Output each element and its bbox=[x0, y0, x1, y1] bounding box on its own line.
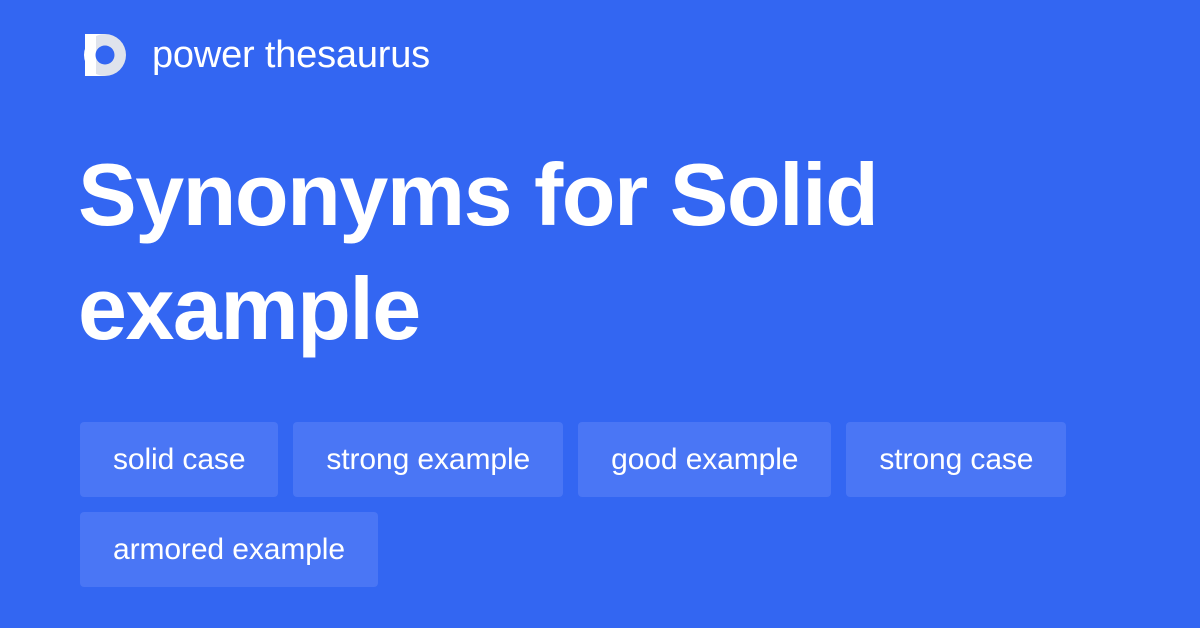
brand-name-part2: thesaurus bbox=[265, 34, 430, 76]
brand-logo[interactable]: power thesaurus bbox=[80, 27, 430, 83]
page-title-line-2: example bbox=[78, 252, 1118, 366]
page-title: Synonyms for Solid example bbox=[78, 138, 1118, 366]
synonym-chip[interactable]: strong case bbox=[846, 422, 1066, 497]
power-thesaurus-b-logo-icon bbox=[80, 30, 130, 80]
synonym-chip[interactable]: solid case bbox=[80, 422, 278, 497]
synonym-chip[interactable]: strong example bbox=[293, 422, 563, 497]
synonym-chip-list: solid case strong example good example s… bbox=[80, 422, 1120, 587]
synonym-chip[interactable]: good example bbox=[578, 422, 831, 497]
synonym-chip[interactable]: armored example bbox=[80, 512, 378, 587]
social-card: power thesaurus Synonyms for Solid examp… bbox=[0, 0, 1200, 628]
brand-name: power thesaurus bbox=[152, 36, 430, 74]
page-title-line-1: Synonyms for Solid bbox=[78, 138, 1118, 252]
brand-name-part1: power bbox=[152, 34, 255, 76]
